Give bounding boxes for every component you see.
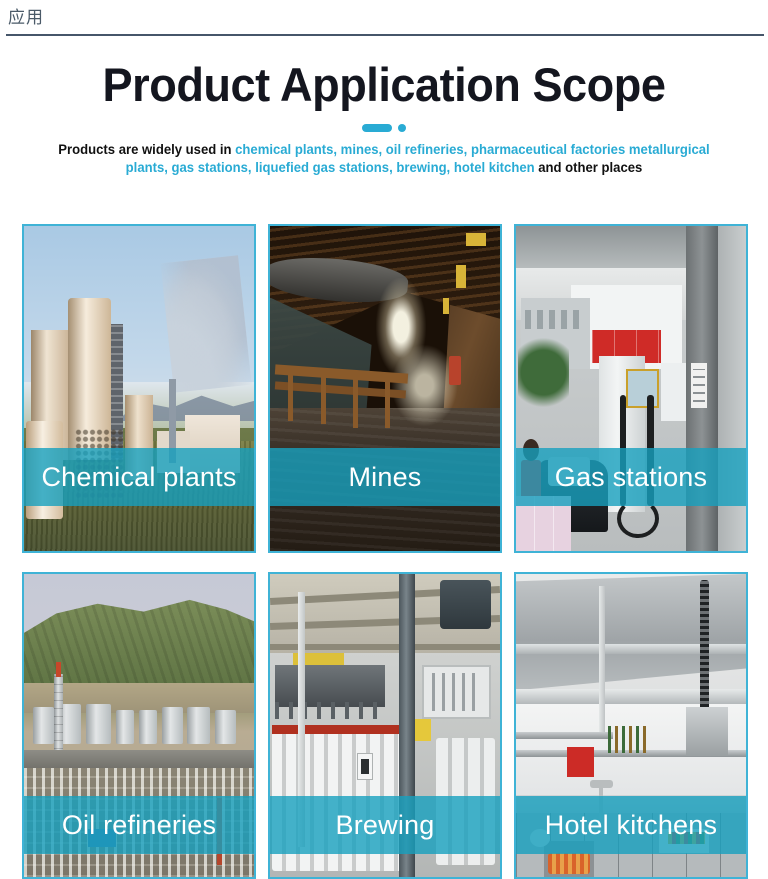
card-caption-band: Gas stations bbox=[516, 448, 746, 506]
application-card-gas-stations[interactable]: Gas stations bbox=[514, 224, 748, 553]
page-title: Product Application Scope bbox=[15, 58, 752, 112]
header-divider bbox=[6, 34, 764, 36]
card-caption-label: Brewing bbox=[336, 810, 435, 840]
page-header: 应用 bbox=[0, 0, 768, 36]
application-card-mines[interactable]: Mines bbox=[268, 224, 502, 553]
card-caption-band: Mines bbox=[270, 448, 500, 506]
card-caption-band: Chemical plants bbox=[24, 448, 254, 506]
card-caption-label: Mines bbox=[348, 462, 421, 492]
title-block: Product Application Scope Products are w… bbox=[0, 36, 768, 177]
card-caption-band: Oil refineries bbox=[24, 796, 254, 854]
breadcrumb: 应用 bbox=[8, 8, 44, 27]
card-caption-band: Brewing bbox=[270, 796, 500, 854]
card-caption-label: Hotel kitchens bbox=[545, 810, 717, 840]
application-card-oil-refineries[interactable]: Oil refineries bbox=[22, 572, 256, 879]
application-card-brewing[interactable]: Brewing bbox=[268, 572, 502, 879]
application-card-chemical-plants[interactable]: Chemical plants bbox=[22, 224, 256, 553]
card-caption-label: Gas stations bbox=[555, 462, 707, 492]
divider-dot-icon bbox=[398, 124, 406, 132]
subtitle: Products are widely used in chemical pla… bbox=[12, 141, 757, 177]
card-caption-label: Chemical plants bbox=[41, 462, 236, 492]
card-caption-band: Hotel kitchens bbox=[516, 796, 746, 854]
subtitle-lead: Products are widely used in bbox=[58, 142, 235, 157]
application-card-hotel-kitchens[interactable]: Hotel kitchens bbox=[514, 572, 748, 879]
subtitle-tail: and other places bbox=[535, 160, 643, 175]
card-caption-label: Oil refineries bbox=[62, 810, 216, 840]
application-card-grid: Chemical plants Mines G bbox=[22, 224, 768, 879]
divider-pill-icon bbox=[362, 124, 392, 132]
subtitle-highlight-1: chemical plants, mines, oil refineries, … bbox=[235, 142, 625, 157]
decorative-divider bbox=[0, 124, 768, 132]
